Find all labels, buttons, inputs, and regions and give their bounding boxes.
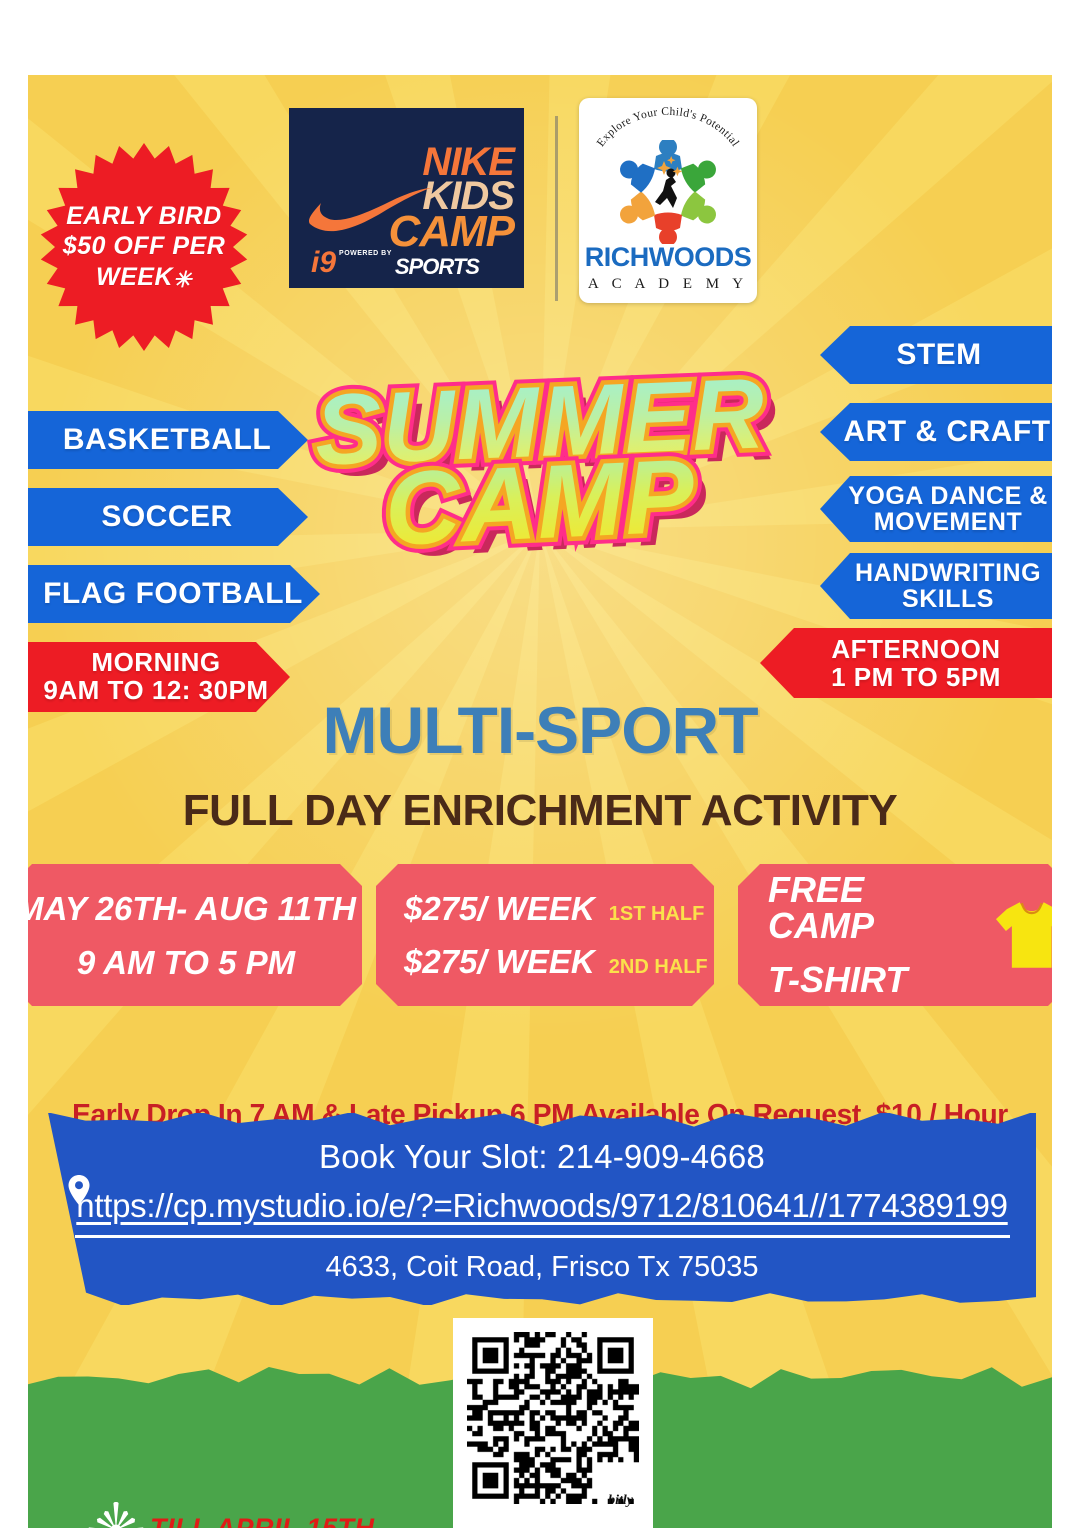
- i9-sports-logo: i9 POWERED BY SPORTS: [311, 238, 481, 278]
- enrichment-subtitle: FULL DAY ENRICHMENT ACTIVITY: [28, 789, 1052, 833]
- nike-swoosh-icon: [305, 186, 433, 232]
- morning-title: MORNING: [91, 649, 220, 677]
- qr-code[interactable]: bitly: [453, 1318, 653, 1528]
- early-bird-text: EARLY BIRD $50 OFF PER WEEK✳: [38, 141, 250, 353]
- qr-code-image: [467, 1332, 639, 1504]
- contact-box: Book Your Slot: 214-909-4668 https://cp.…: [48, 1113, 1036, 1305]
- multi-sport-heading: MULTI-SPORT: [28, 697, 1052, 763]
- early-bird-line2: $50 OFF PER: [63, 231, 226, 262]
- poster-canvas: NIKE KIDS CAMP i9 POWERED BY SPORTS Expl…: [28, 75, 1052, 1528]
- early-bird-line3: WEEK: [96, 263, 173, 291]
- afternoon-time: 1 PM TO 5PM: [831, 663, 1001, 691]
- deadline-note: TILL APRIL 15TH: [150, 1515, 375, 1528]
- early-bird-line1: EARLY BIRD: [66, 201, 221, 232]
- richwoods-academy-logo: Explore Your Child's Potential: [579, 98, 757, 303]
- qr-brand-label: bitly: [608, 1494, 633, 1508]
- address-line: 4633, Coit Road, Frisco Tx 75035: [325, 1250, 758, 1285]
- logo-divider: [555, 116, 558, 301]
- sparkle-icon: ✳: [173, 267, 192, 294]
- tshirt-line2: T-SHIRT: [768, 962, 979, 998]
- contact-box-body: Book Your Slot: 214-909-4668 https://cp.…: [48, 1113, 1036, 1305]
- i9-mark: i9: [311, 248, 336, 278]
- tshirt-card-inner: FREE CAMP T-SHIRT: [738, 872, 1052, 998]
- price-tag: 1ST HALF: [609, 904, 705, 924]
- title-camp-text: CAMP: [382, 438, 697, 568]
- i9-sports-word: SPORTS: [395, 256, 479, 278]
- tshirt-line1: FREE CAMP: [768, 872, 979, 944]
- nike-kids-camp-logo: NIKE KIDS CAMP i9 POWERED BY SPORTS: [289, 108, 524, 288]
- early-bird-badge: EARLY BIRD $50 OFF PER WEEK✳: [38, 141, 250, 353]
- richwoods-circle-figures-icon: [606, 140, 730, 244]
- sparkle-icon: [88, 1502, 144, 1528]
- price-amount: $275/ WEEK: [404, 945, 595, 978]
- url-underline-rule: [75, 1235, 1010, 1238]
- i9-powered-by: POWERED BY: [339, 250, 392, 258]
- book-phone-line[interactable]: Book Your Slot: 214-909-4668: [319, 1137, 765, 1177]
- tshirt-card-lines: FREE CAMP T-SHIRT: [768, 872, 979, 998]
- pricing-card: $275/ WEEK 1ST HALF $275/ WEEK 2ND HALF: [376, 864, 714, 1006]
- price-row: $275/ WEEK 1ST HALF: [376, 892, 714, 925]
- dates-range: MAY 26TH- AUG 11TH: [28, 892, 356, 925]
- dates-hours: 9 AM TO 5 PM: [77, 946, 295, 979]
- richwoods-name: RICHWOODS: [579, 244, 757, 271]
- price-row: $275/ WEEK 2ND HALF: [376, 945, 714, 978]
- richwoods-subtitle: A C A D E M Y: [579, 277, 757, 292]
- free-tshirt-card: FREE CAMP T-SHIRT: [738, 864, 1052, 1006]
- booking-url-link[interactable]: https://cp.mystudio.io/e/?=Richwoods/971…: [76, 1185, 1007, 1226]
- page-title: SUMMER SUMMER SUMMER SUMMER CAMP CAMP CA…: [28, 375, 1052, 645]
- dates-card: MAY 26TH- AUG 11TH 9 AM TO 5 PM: [28, 864, 362, 1006]
- price-amount: $275/ WEEK: [404, 892, 595, 925]
- price-tag: 2ND HALF: [609, 957, 708, 977]
- tshirt-icon: [993, 898, 1052, 972]
- early-bird-line3-row: WEEK✳: [96, 262, 192, 294]
